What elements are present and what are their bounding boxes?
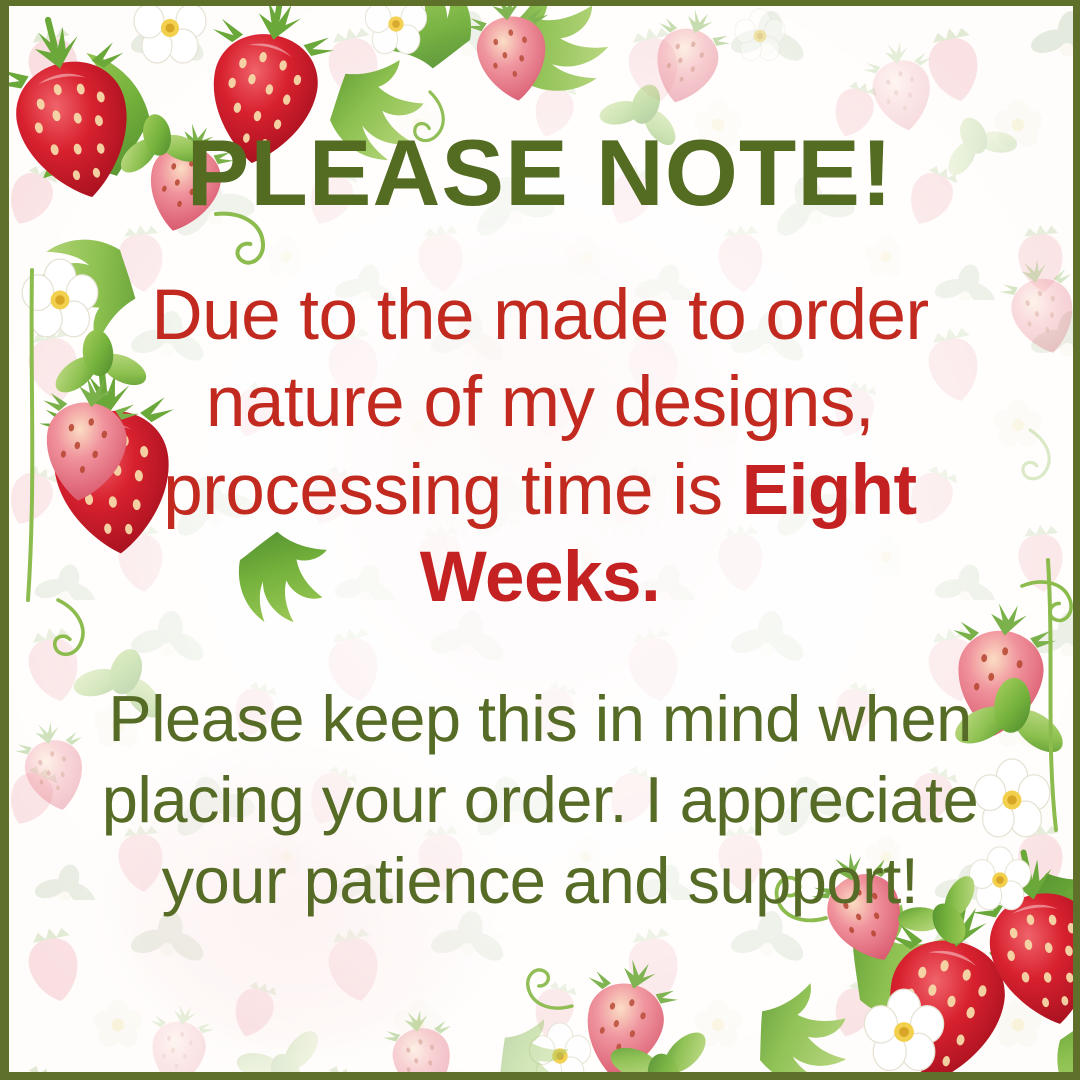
notice-period: .: [641, 538, 660, 617]
processing-time-notice: Due to the made to order nature of my de…: [70, 272, 1010, 621]
announcement-poster: PLEASE NOTE! Due to the made to order na…: [0, 0, 1080, 1080]
poster-content: PLEASE NOTE! Due to the made to order na…: [0, 0, 1080, 1080]
closing-message: Please keep this in mind when placing yo…: [60, 679, 1020, 921]
page-title: PLEASE NOTE!: [187, 126, 894, 220]
